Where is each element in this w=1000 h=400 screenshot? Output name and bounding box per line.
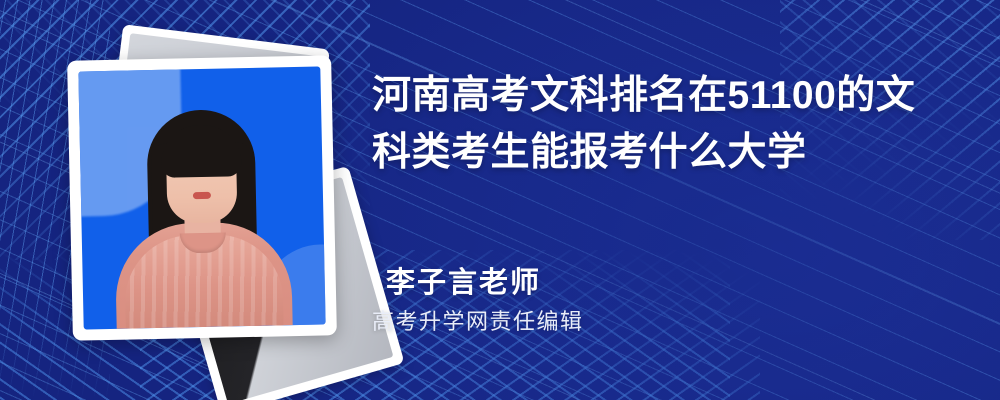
portrait-illustration (78, 66, 325, 329)
article-header-banner: 河南高考文科排名在51100的文科类考生能报考什么大学 李子言老师 高考升学网责… (0, 0, 1000, 400)
banner-text-column: 河南高考文科排名在51100的文科类考生能报考什么大学 李子言老师 高考升学网责… (372, 0, 962, 400)
author-byline: 李子言老师 高考升学网责任编辑 (386, 268, 584, 334)
page-title: 河南高考文科排名在51100的文科类考生能报考什么大学 (372, 68, 942, 182)
author-photo (78, 66, 325, 329)
portrait-mouth (193, 192, 211, 199)
author-role: 高考升学网责任编辑 (372, 310, 584, 334)
author-name: 李子言老师 (386, 268, 584, 300)
author-photo-stack (52, 38, 352, 363)
author-photo-card (67, 55, 337, 340)
